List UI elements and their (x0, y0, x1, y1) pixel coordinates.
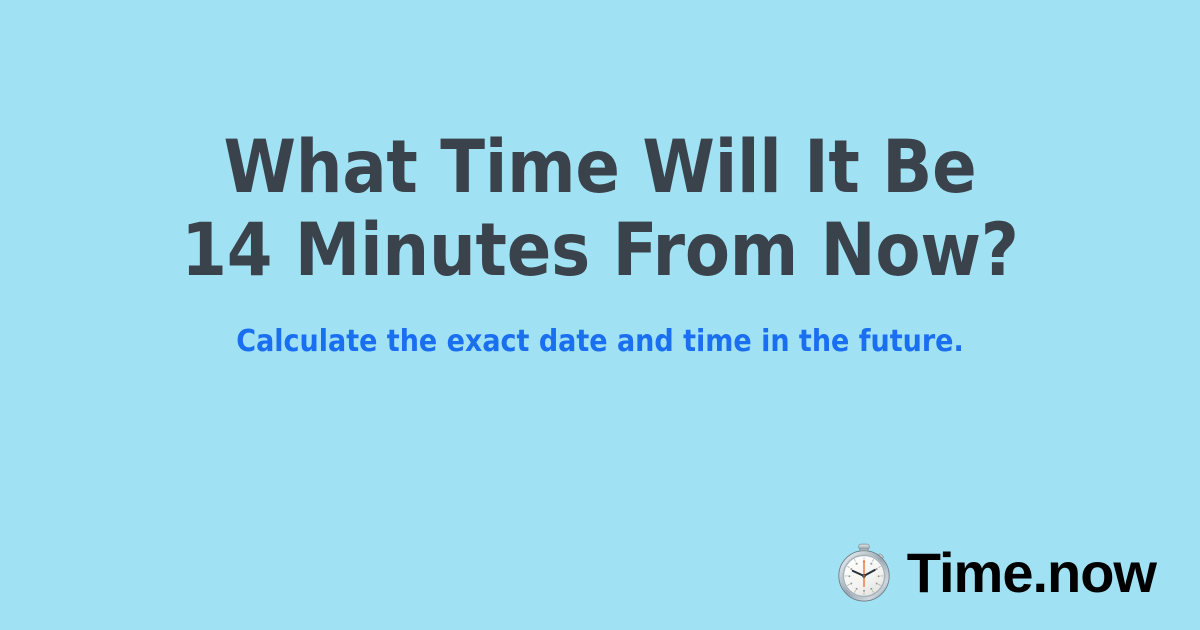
share-card: What Time Will It Be 14 Minutes From Now… (0, 0, 1200, 630)
page-subtitle: Calculate the exact date and time in the… (0, 292, 1200, 360)
page-title: What Time Will It Be 14 Minutes From Now… (0, 126, 1200, 292)
brand-logo-lockup[interactable]: Time.now (833, 542, 1156, 604)
page-title-line-1: What Time Will It Be (0, 126, 1200, 209)
stopwatch-icon (833, 542, 895, 604)
brand-name: Time.now (907, 545, 1156, 601)
page-title-line-2: 14 Minutes From Now? (0, 209, 1200, 292)
card-content: What Time Will It Be 14 Minutes From Now… (0, 0, 1200, 360)
